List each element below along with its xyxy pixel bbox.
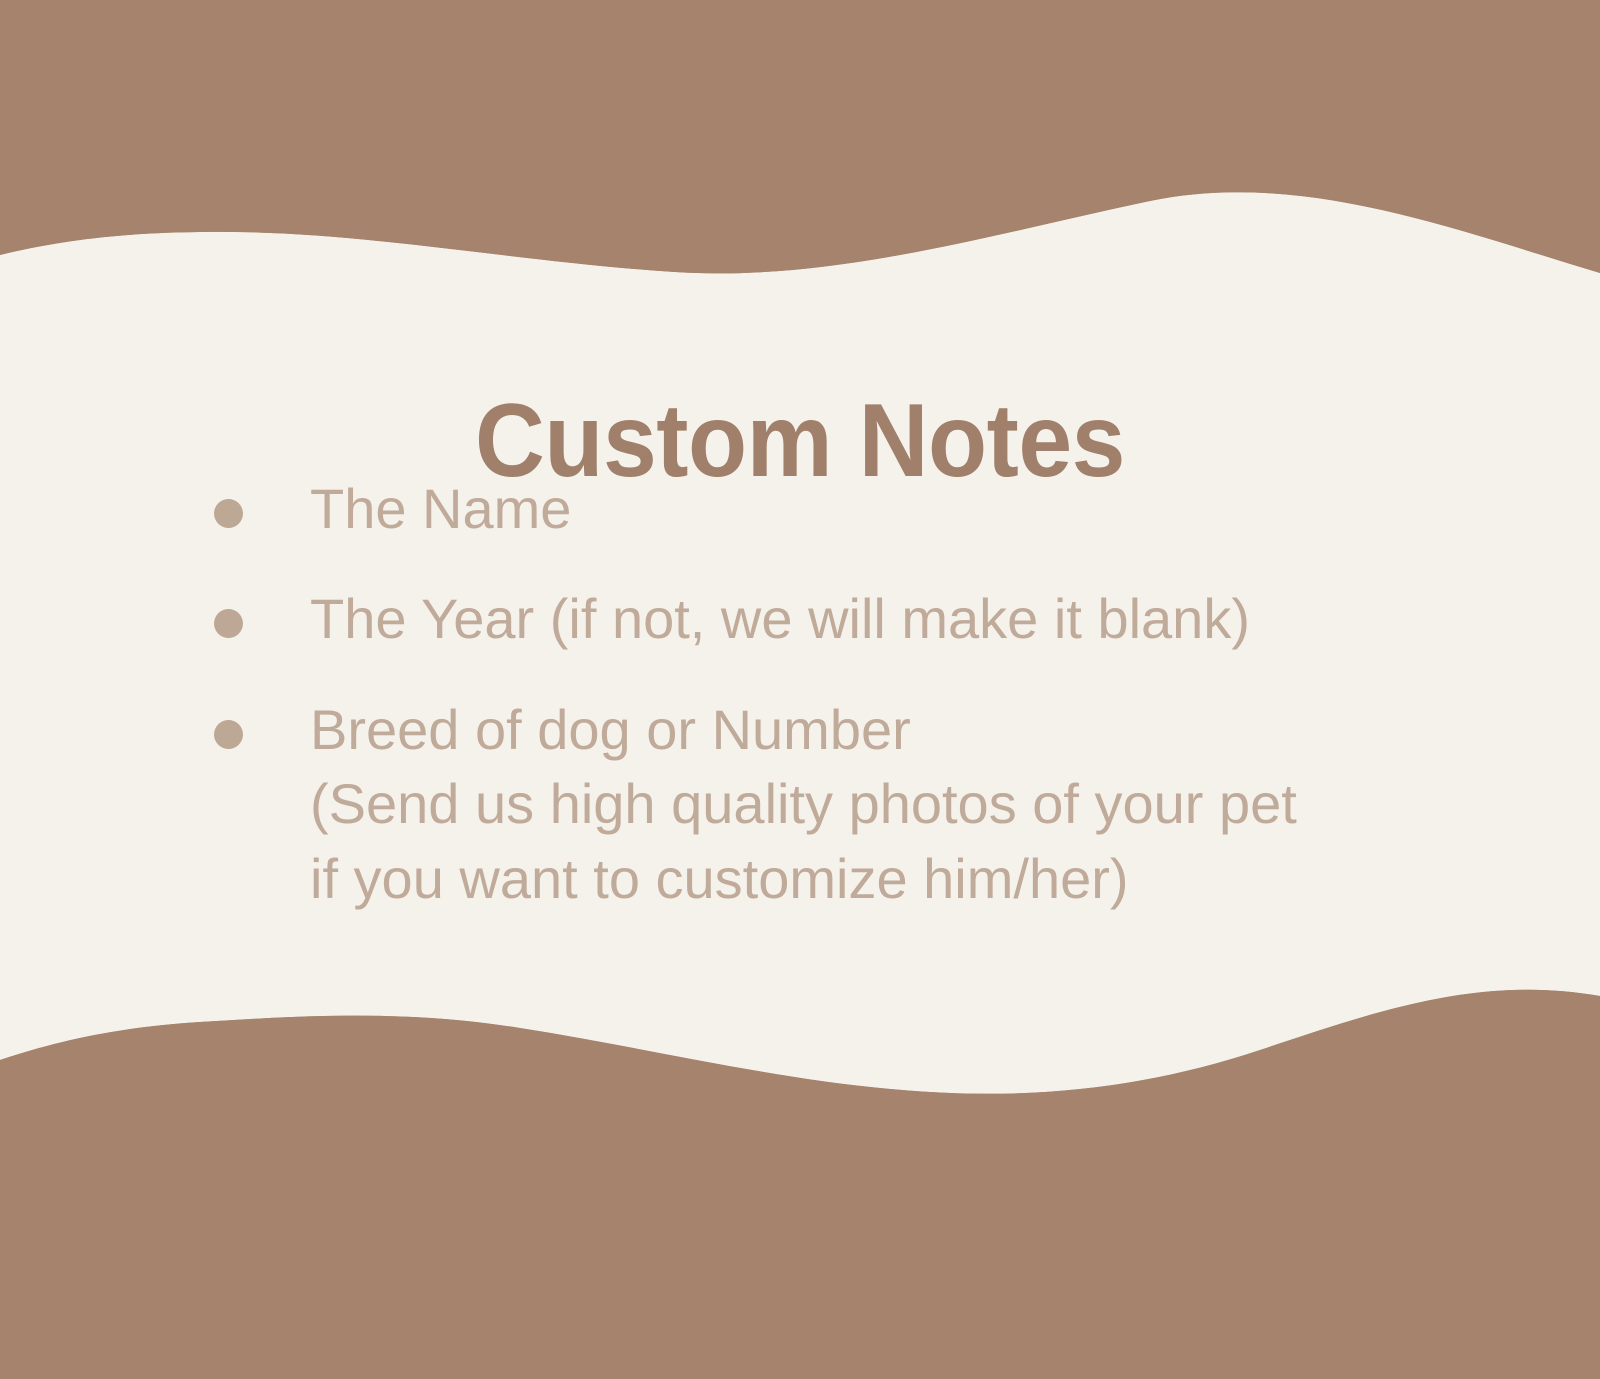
card-content: Custom Notes The Name The Year (if not, …	[0, 0, 1600, 1379]
bullet-dot-icon	[214, 720, 243, 749]
list-item-label: The Year (if not, we will make it blank)	[310, 587, 1250, 650]
list-item: The Name	[0, 472, 1600, 546]
list-item: The Year (if not, we will make it blank)	[0, 582, 1600, 656]
custom-notes-card: Custom Notes The Name The Year (if not, …	[0, 0, 1600, 1379]
notes-list: The Name The Year (if not, we will make …	[0, 472, 1600, 916]
list-item-label: Breed of dog or Number (Send us high qua…	[310, 698, 1297, 910]
bullet-dot-icon	[214, 499, 243, 528]
list-item: Breed of dog or Number (Send us high qua…	[0, 693, 1600, 916]
bullet-dot-icon	[214, 609, 243, 638]
list-item-label: The Name	[310, 477, 571, 540]
